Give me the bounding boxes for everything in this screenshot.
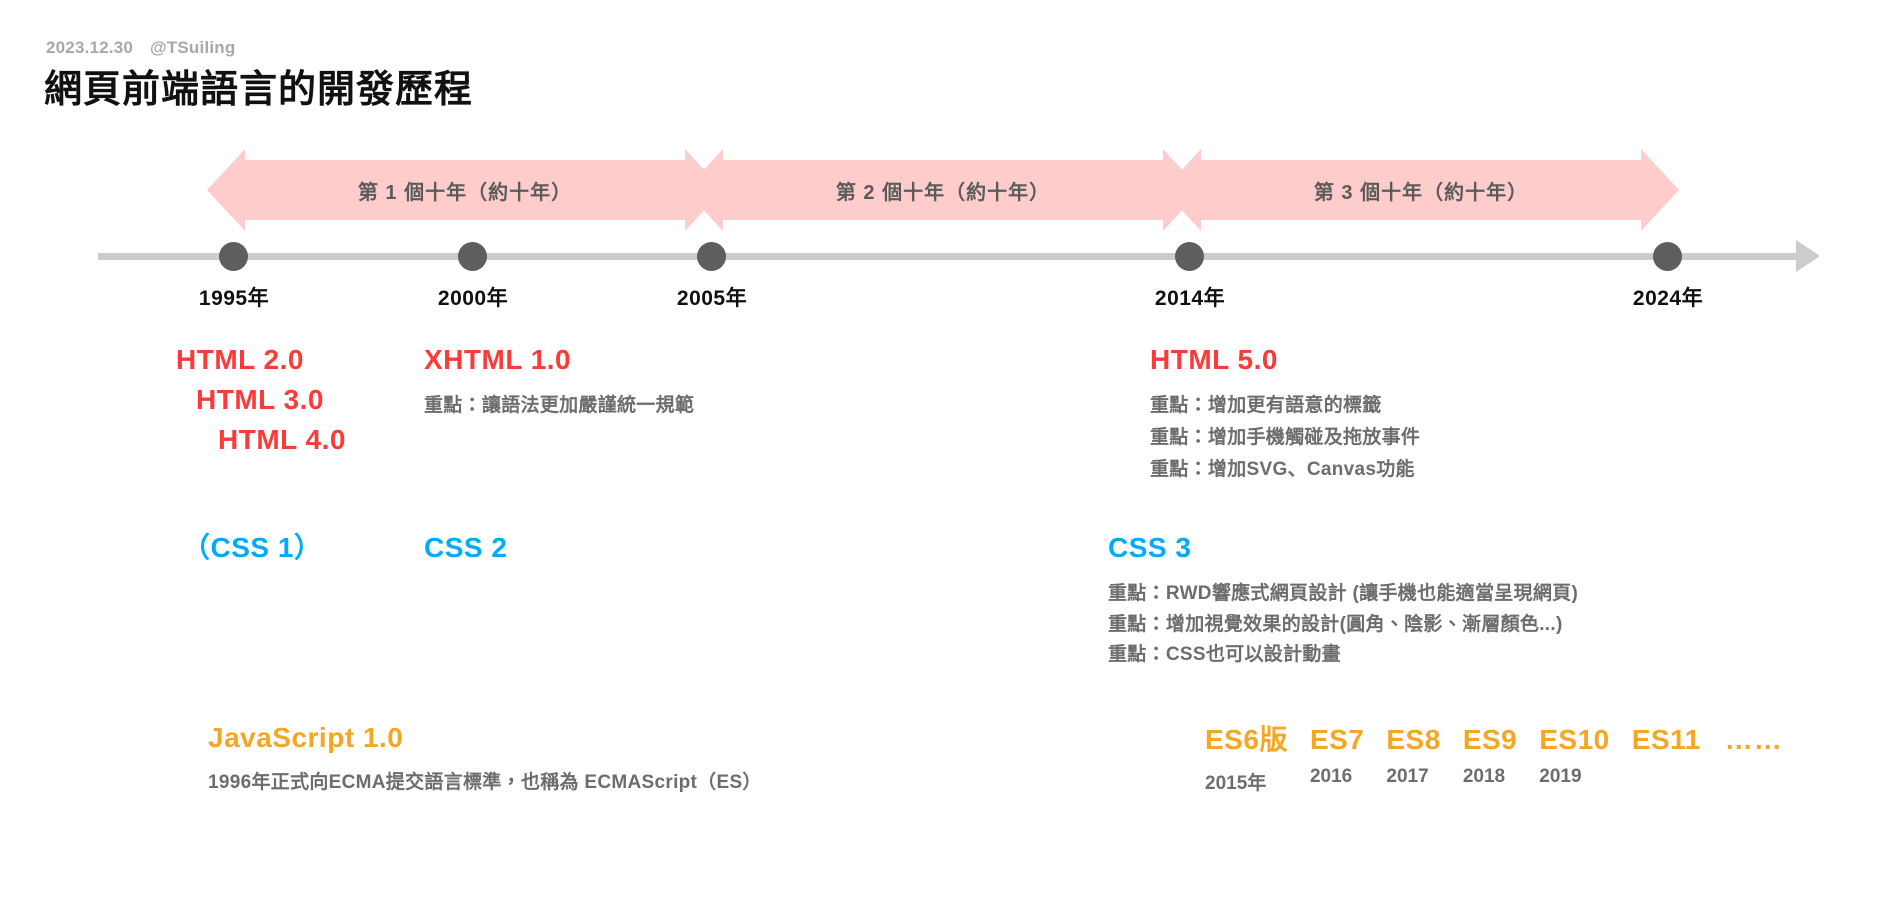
timeline-dot-2014 <box>1175 242 1204 271</box>
css3-title: CSS 3 <box>1108 528 1578 568</box>
html-version-4: HTML 4.0 <box>176 420 346 460</box>
es-entry-es7: ES7 2016 <box>1310 724 1364 788</box>
es-entry-es9: ES9 2018 <box>1463 724 1517 788</box>
es-versions-block: ES6版 2015年 ES7 2016 ES8 2017 ES9 2018 ES… <box>1205 718 1783 795</box>
es-year-es8: 2017 <box>1386 766 1440 788</box>
es-year-es7: 2016 <box>1310 766 1364 788</box>
byline-date: 2023.12.30 <box>46 38 133 57</box>
es-year-es6: 2015年 <box>1205 768 1288 795</box>
byline: 2023.12.30 @TSuiling <box>46 38 235 58</box>
decade-label-2: 第 2 個十年（約十年） <box>836 176 1050 205</box>
es-name-es6: ES6版 <box>1205 718 1288 758</box>
javascript-title: JavaScript 1.0 <box>208 718 762 758</box>
timeline-year-1995: 1995年 <box>199 282 269 312</box>
timeline-axis-arrowhead-icon <box>1796 240 1820 272</box>
html5-note-1: 重點：增加更有語意的標籤 <box>1150 390 1420 422</box>
css3-note-2: 重點：增加視覺效果的設計(圓角、陰影、漸層顏色...) <box>1108 610 1578 641</box>
html5-block: HTML 5.0 重點：增加更有語意的標籤 重點：增加手機觸碰及拖放事件 重點：… <box>1150 340 1420 485</box>
html-version-3: HTML 3.0 <box>176 380 346 420</box>
es-year-es9: 2018 <box>1463 766 1517 788</box>
es-name-es9: ES9 <box>1463 724 1517 756</box>
xhtml-block: XHTML 1.0 重點：讓語法更加嚴謹統一規範 <box>424 340 694 422</box>
es-name-es8: ES8 <box>1386 724 1440 756</box>
page-title: 網頁前端語言的開發歷程 <box>44 58 473 113</box>
byline-handle: @TSuiling <box>150 38 235 57</box>
es-name-es10: ES10 <box>1539 724 1610 756</box>
css2-title: CSS 2 <box>424 528 507 568</box>
timeline-dot-2000 <box>458 242 487 271</box>
es-versions-row: ES6版 2015年 ES7 2016 ES8 2017 ES9 2018 ES… <box>1205 718 1783 795</box>
timeline-dot-2024 <box>1653 242 1682 271</box>
timeline-year-2000: 2000年 <box>438 282 508 312</box>
html5-note-3: 重點：增加SVG、Canvas功能 <box>1150 454 1420 486</box>
html5-title: HTML 5.0 <box>1150 340 1420 380</box>
decade-arrow-band: 第 1 個十年（約十年） 第 2 個十年（約十年） 第 3 個十年（約十年） <box>0 160 1900 220</box>
html5-note-2: 重點：增加手機觸碰及拖放事件 <box>1150 422 1420 454</box>
timeline-dot-2005 <box>697 242 726 271</box>
es-entry-more: …… <box>1725 724 1783 756</box>
es-entry-es11: ES11 <box>1632 724 1701 788</box>
es-name-es7: ES7 <box>1310 724 1364 756</box>
javascript-block: JavaScript 1.0 1996年正式向ECMA提交語言標準，也稱為 EC… <box>208 718 762 799</box>
es-ellipsis: …… <box>1725 724 1783 756</box>
decade-arrow-2: 第 2 個十年（約十年） <box>723 160 1163 220</box>
es-entry-es6: ES6版 2015年 <box>1205 718 1288 795</box>
es-entry-es8: ES8 2017 <box>1386 724 1440 788</box>
xhtml-note-1: 重點：讓語法更加嚴謹統一規範 <box>424 390 694 422</box>
javascript-note-1: 1996年正式向ECMA提交語言標準，也稱為 ECMAScript（ES） <box>208 767 762 799</box>
es-entry-es10: ES10 2019 <box>1539 724 1610 788</box>
html-version-2: HTML 2.0 <box>176 340 346 380</box>
css3-note-3: 重點：CSS也可以設計動畫 <box>1108 640 1578 671</box>
decade-label-1: 第 1 個十年（約十年） <box>358 176 572 205</box>
timeline-dot-1995 <box>219 242 248 271</box>
es-name-es11: ES11 <box>1632 724 1701 756</box>
css3-note-1: 重點：RWD響應式網頁設計 (讓手機也能適當呈現網頁) <box>1108 579 1578 610</box>
es-year-es11 <box>1632 766 1701 788</box>
css3-block: CSS 3 重點：RWD響應式網頁設計 (讓手機也能適當呈現網頁) 重點：增加視… <box>1108 528 1578 671</box>
es-year-es10: 2019 <box>1539 766 1610 788</box>
timeline-year-2014: 2014年 <box>1155 282 1225 312</box>
decade-arrow-3: 第 3 個十年（約十年） <box>1201 160 1641 220</box>
xhtml-title: XHTML 1.0 <box>424 340 694 380</box>
decade-arrow-1: 第 1 個十年（約十年） <box>245 160 685 220</box>
timeline-year-2005: 2005年 <box>677 282 747 312</box>
css1-title: （CSS 1） <box>182 528 322 568</box>
css1-block: （CSS 1） <box>182 528 322 568</box>
css2-block: CSS 2 <box>424 528 507 568</box>
timeline-axis-line <box>98 253 1798 260</box>
timeline-year-2024: 2024年 <box>1633 282 1703 312</box>
decade-label-3: 第 3 個十年（約十年） <box>1314 176 1528 205</box>
html-early-block: HTML 2.0 HTML 3.0 HTML 4.0 <box>176 340 346 459</box>
